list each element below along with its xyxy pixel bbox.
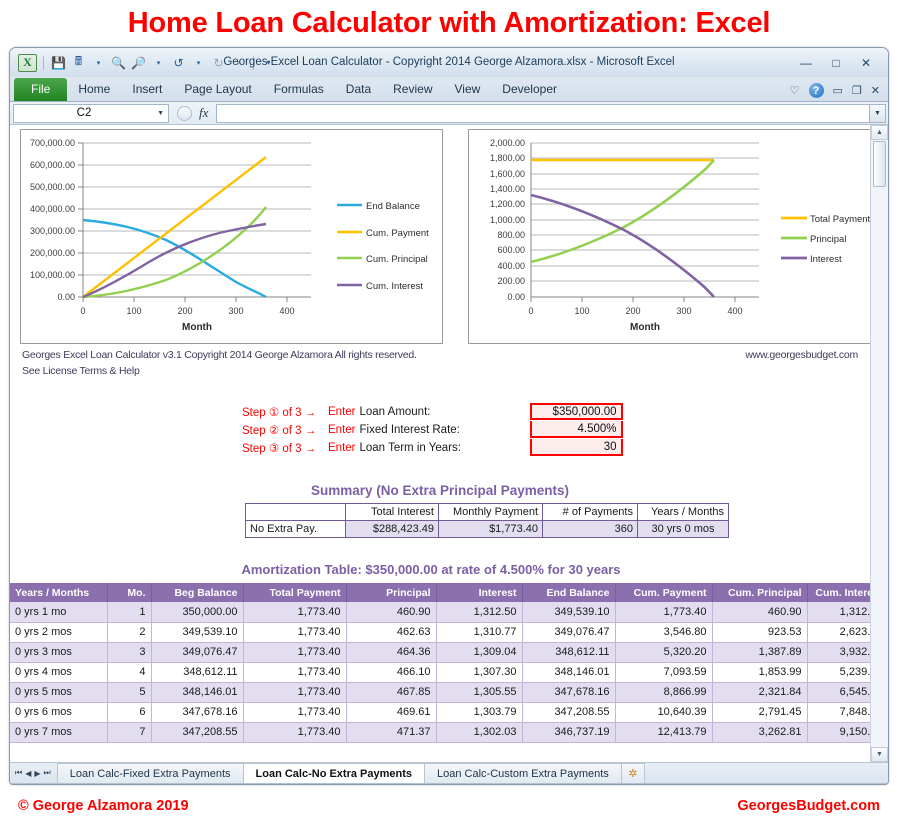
cell-cum-principal: 3,262.81 bbox=[712, 722, 807, 742]
restore-icon[interactable]: □ bbox=[826, 55, 846, 71]
loan-term-input[interactable]: 30 bbox=[530, 439, 623, 456]
website-url: www.georgesbudget.com bbox=[745, 349, 858, 361]
step-2-field-label: Fixed Interest Rate: bbox=[360, 424, 530, 436]
payment-breakdown-chart-svg: 2,000.00 1,800.00 1,600.00 1,400.00 1,20… bbox=[469, 130, 887, 343]
cell-cum-principal: 923.53 bbox=[712, 622, 807, 642]
cumulative-chart-svg: 700,000.00 600,000.00 500,000.00 400,000… bbox=[21, 130, 442, 343]
svg-text:300: 300 bbox=[228, 306, 243, 316]
svg-text:200: 200 bbox=[625, 306, 640, 316]
step-1-field-label: Loan Amount: bbox=[360, 406, 530, 418]
sheet-tab-fixed-extra[interactable]: Loan Calc-Fixed Extra Payments bbox=[57, 763, 244, 783]
chevron-down-icon[interactable]: ▼ bbox=[157, 110, 164, 117]
sheet-tab-bar[interactable]: ⏮ ◀ ▶ ⏭ Loan Calc-Fixed Extra Payments L… bbox=[10, 762, 888, 783]
step-row-2[interactable]: Step ② of 3 → Enter Fixed Interest Rate:… bbox=[242, 421, 623, 438]
tab-insert[interactable]: Insert bbox=[121, 78, 173, 101]
cell-cum-principal: 460.90 bbox=[712, 602, 807, 622]
sheet-tab-no-extra[interactable]: Loan Calc-No Extra Payments bbox=[243, 763, 426, 783]
svg-text:Cum. Interest: Cum. Interest bbox=[366, 281, 423, 292]
excel-logo-icon[interactable]: X bbox=[18, 54, 37, 72]
quick-access-toolbar[interactable]: X 💾 🖩 ▾ 🔍 🔎 ▾ ↺ ▾ ↻ ▾ ▾ bbox=[14, 54, 277, 72]
cell-month: 5 bbox=[107, 682, 151, 702]
close-icon[interactable]: ✕ bbox=[856, 55, 876, 71]
cell-years-months: 0 yrs 3 mos bbox=[10, 642, 107, 662]
last-sheet-icon[interactable]: ⏭ bbox=[44, 768, 51, 778]
cell-cum-payment: 3,546.80 bbox=[615, 622, 712, 642]
svg-text:Principal: Principal bbox=[810, 234, 846, 245]
col-month: Mo. bbox=[107, 583, 151, 602]
cell-beg-balance: 347,678.16 bbox=[151, 702, 243, 722]
cell-end-balance: 347,208.55 bbox=[522, 702, 615, 722]
summary-value-row: No Extra Pay. $288,423.49 $1,773.40 360 … bbox=[246, 521, 729, 538]
cell-principal: 462.63 bbox=[346, 622, 436, 642]
scrollbar-thumb[interactable] bbox=[873, 141, 886, 187]
step-1-enter: Enter bbox=[328, 406, 356, 418]
table-row[interactable]: 0 yrs 5 mos 5 348,146.01 1,773.40 467.85… bbox=[10, 682, 888, 702]
svg-text:Cum. Principal: Cum. Principal bbox=[366, 254, 428, 265]
svg-text:400: 400 bbox=[727, 306, 742, 316]
cell-end-balance: 348,612.11 bbox=[522, 642, 615, 662]
cell-cum-payment: 7,093.59 bbox=[615, 662, 712, 682]
cell-years-months: 0 yrs 1 mo bbox=[10, 602, 107, 622]
summary-header-total-interest: Total Interest bbox=[346, 504, 439, 521]
summary-header-years-months: Years / Months bbox=[638, 504, 729, 521]
cell-years-months: 0 yrs 6 mos bbox=[10, 702, 107, 722]
step-2-enter: Enter bbox=[328, 424, 356, 436]
cell-years-months: 0 yrs 7 mos bbox=[10, 722, 107, 742]
cell-years-months: 0 yrs 2 mos bbox=[10, 622, 107, 642]
tab-view[interactable]: View bbox=[444, 78, 492, 101]
cell-month: 3 bbox=[107, 642, 151, 662]
summary-monthly-payment: $1,773.40 bbox=[439, 521, 543, 538]
summary-header-blank bbox=[246, 504, 346, 521]
page-title: Home Loan Calculator with Amortization: … bbox=[128, 7, 771, 40]
cell-principal: 460.90 bbox=[346, 602, 436, 622]
svg-text:700,000.00: 700,000.00 bbox=[30, 138, 75, 148]
cancel-formula-icon[interactable] bbox=[177, 106, 192, 121]
sheet-tab-custom-extra[interactable]: Loan Calc-Custom Extra Payments bbox=[424, 763, 622, 783]
worksheet-area[interactable]: 700,000.00 600,000.00 500,000.00 400,000… bbox=[10, 125, 888, 762]
chevron-down-icon-4[interactable]: ▾ bbox=[230, 54, 247, 71]
cell-total-payment: 1,773.40 bbox=[243, 662, 346, 682]
excel-window: X 💾 🖩 ▾ 🔍 🔎 ▾ ↺ ▾ ↻ ▾ ▾ Georges Excel Lo… bbox=[9, 47, 889, 785]
cell-total-payment: 1,773.40 bbox=[243, 702, 346, 722]
cell-beg-balance: 349,539.10 bbox=[151, 622, 243, 642]
cell-total-payment: 1,773.40 bbox=[243, 602, 346, 622]
cumulative-chart-legend: End Balance Cum. Payment Cum. Principal … bbox=[337, 201, 429, 292]
cell-end-balance: 348,146.01 bbox=[522, 662, 615, 682]
license-terms-link[interactable]: See License Terms & Help bbox=[22, 365, 140, 377]
col-years-months: Years / Months bbox=[10, 583, 107, 602]
cell-interest: 1,302.03 bbox=[436, 722, 522, 742]
summary-years-months: 30 yrs 0 mos bbox=[638, 521, 729, 538]
svg-text:0: 0 bbox=[528, 306, 533, 316]
cell-cum-principal: 2,791.45 bbox=[712, 702, 807, 722]
scroll-down-icon[interactable]: ▼ bbox=[871, 747, 888, 762]
step-row-3[interactable]: Step ③ of 3 → Enter Loan Term in Years: … bbox=[242, 439, 623, 456]
next-sheet-icon[interactable]: ▶ bbox=[34, 769, 40, 778]
footer-site: GeorgesBudget.com bbox=[737, 798, 880, 814]
cell-month: 2 bbox=[107, 622, 151, 642]
cell-month: 4 bbox=[107, 662, 151, 682]
svg-text:200: 200 bbox=[177, 306, 192, 316]
step-3-field-label: Loan Term in Years: bbox=[360, 442, 530, 454]
previous-sheet-icon[interactable]: ◀ bbox=[25, 769, 31, 778]
footer-copyright: © George Alzamora 2019 bbox=[18, 798, 189, 814]
close-workbook-icon[interactable]: ✕ bbox=[871, 84, 880, 97]
cell-interest: 1,312.50 bbox=[436, 602, 522, 622]
amortization-title: Amortization Table: $350,000.00 at rate … bbox=[10, 562, 852, 577]
col-interest: Interest bbox=[436, 583, 522, 602]
svg-text:1,400.00: 1,400.00 bbox=[490, 184, 525, 194]
cell-month: 6 bbox=[107, 702, 151, 722]
tab-home[interactable]: Home bbox=[67, 78, 121, 101]
svg-text:1,600.00: 1,600.00 bbox=[490, 169, 525, 179]
formula-bar[interactable]: C2 ▼ fx ▼ bbox=[10, 102, 888, 125]
summary-num-payments: 360 bbox=[543, 521, 638, 538]
cell-total-payment: 1,773.40 bbox=[243, 622, 346, 642]
svg-text:100,000.00: 100,000.00 bbox=[30, 270, 75, 280]
step-row-1[interactable]: Step ① of 3 → Enter Loan Amount: $350,00… bbox=[242, 403, 623, 420]
svg-text:Interest: Interest bbox=[810, 254, 842, 265]
chevron-down-icon-3[interactable]: ▾ bbox=[190, 54, 207, 71]
svg-text:200,000.00: 200,000.00 bbox=[30, 248, 75, 258]
undo-icon[interactable]: ↺ bbox=[170, 54, 187, 71]
tab-file[interactable]: File bbox=[14, 78, 67, 101]
minimize-icon[interactable]: — bbox=[796, 55, 816, 71]
svg-text:Month: Month bbox=[182, 322, 212, 333]
table-row[interactable]: 0 yrs 2 mos 2 349,539.10 1,773.40 462.63… bbox=[10, 622, 888, 642]
svg-text:400.00: 400.00 bbox=[497, 261, 525, 271]
tab-developer[interactable]: Developer bbox=[491, 78, 568, 101]
cell-principal: 467.85 bbox=[346, 682, 436, 702]
svg-text:100: 100 bbox=[574, 306, 589, 316]
summary-total-interest: $288,423.49 bbox=[346, 521, 439, 538]
insert-function-icon[interactable]: fx bbox=[199, 105, 208, 121]
svg-text:600,000.00: 600,000.00 bbox=[30, 160, 75, 170]
summary-header-num-payments: # of Payments bbox=[543, 504, 638, 521]
divider-2 bbox=[253, 56, 254, 70]
cell-total-payment: 1,773.40 bbox=[243, 722, 346, 742]
table-row[interactable]: 0 yrs 3 mos 3 349,076.47 1,773.40 464.36… bbox=[10, 642, 888, 662]
svg-text:1,200.00: 1,200.00 bbox=[490, 199, 525, 209]
cell-month: 7 bbox=[107, 722, 151, 742]
col-cum-payment: Cum. Payment bbox=[615, 583, 712, 602]
tab-formulas[interactable]: Formulas bbox=[263, 78, 335, 101]
interest-rate-input[interactable]: 4.500% bbox=[530, 421, 623, 438]
name-box-value: C2 bbox=[14, 107, 168, 119]
find-icon[interactable]: 🔍 bbox=[110, 54, 127, 71]
ribbon-tab-strip[interactable]: File Home Insert Page Layout Formulas Da… bbox=[10, 77, 888, 102]
step-3-label: Step ③ of 3 → bbox=[242, 441, 324, 455]
loan-amount-input[interactable]: $350,000.00 bbox=[530, 403, 623, 420]
tab-review[interactable]: Review bbox=[382, 78, 443, 101]
status-bar: Ready ▤ ▦ ▣ ▥ 84% − + ◢ bbox=[10, 783, 888, 785]
summary-label: No Extra Pay. bbox=[246, 521, 346, 538]
summary-table: Total Interest Monthly Payment # of Paym… bbox=[245, 503, 729, 538]
cell-cum-principal: 2,321.84 bbox=[712, 682, 807, 702]
svg-text:2,000.00: 2,000.00 bbox=[490, 138, 525, 148]
divider bbox=[43, 56, 44, 70]
cell-beg-balance: 348,612.11 bbox=[151, 662, 243, 682]
cell-interest: 1,307.30 bbox=[436, 662, 522, 682]
cell-interest: 1,309.04 bbox=[436, 642, 522, 662]
cell-beg-balance: 348,146.01 bbox=[151, 682, 243, 702]
svg-text:400,000.00: 400,000.00 bbox=[30, 204, 75, 214]
insert-worksheet-icon[interactable]: ✲ bbox=[621, 763, 645, 783]
cell-interest: 1,305.55 bbox=[436, 682, 522, 702]
svg-text:0.00: 0.00 bbox=[507, 292, 525, 302]
cell-interest: 1,310.77 bbox=[436, 622, 522, 642]
col-principal: Principal bbox=[346, 583, 436, 602]
table-row[interactable]: 0 yrs 7 mos 7 347,208.55 1,773.40 471.37… bbox=[10, 722, 888, 742]
svg-text:200.00: 200.00 bbox=[497, 276, 525, 286]
ribbon-right-controls[interactable]: ♡ ? ▭ ❐ ✕ bbox=[790, 83, 888, 101]
table-row[interactable]: 0 yrs 1 mo 1 350,000.00 1,773.40 460.90 … bbox=[10, 602, 888, 622]
step-3-enter: Enter bbox=[328, 442, 356, 454]
cell-principal: 469.61 bbox=[346, 702, 436, 722]
svg-text:600.00: 600.00 bbox=[497, 245, 525, 255]
cell-interest: 1,303.79 bbox=[436, 702, 522, 722]
svg-text:400: 400 bbox=[279, 306, 294, 316]
help-icon[interactable]: ? bbox=[809, 83, 824, 98]
amortization-table: Years / Months Mo. Beg Balance Total Pay… bbox=[10, 583, 888, 743]
chevron-down-icon-2[interactable]: ▾ bbox=[150, 54, 167, 71]
sheet-nav-buttons[interactable]: ⏮ ◀ ▶ ⏭ bbox=[12, 763, 57, 783]
cell-beg-balance: 349,076.47 bbox=[151, 642, 243, 662]
window-controls[interactable]: — □ ✕ bbox=[796, 55, 884, 71]
col-beg-balance: Beg Balance bbox=[151, 583, 243, 602]
minimize-workbook-icon[interactable]: ▭ bbox=[833, 84, 843, 97]
cell-end-balance: 349,539.10 bbox=[522, 602, 615, 622]
worksheet-canvas[interactable]: 700,000.00 600,000.00 500,000.00 400,000… bbox=[10, 125, 870, 762]
svg-text:800.00: 800.00 bbox=[497, 230, 525, 240]
cell-total-payment: 1,773.40 bbox=[243, 682, 346, 702]
summary-title: Summary (No Extra Principal Payments) bbox=[10, 483, 870, 498]
cell-principal: 464.36 bbox=[346, 642, 436, 662]
col-end-balance: End Balance bbox=[522, 583, 615, 602]
svg-text:500,000.00: 500,000.00 bbox=[30, 182, 75, 192]
col-total-payment: Total Payment bbox=[243, 583, 346, 602]
cell-cum-principal: 1,387.89 bbox=[712, 642, 807, 662]
cell-principal: 471.37 bbox=[346, 722, 436, 742]
name-box[interactable]: C2 ▼ bbox=[13, 104, 169, 123]
redo-icon[interactable]: ↻ bbox=[210, 54, 227, 71]
vertical-scrollbar[interactable]: ▲ ▼ bbox=[870, 125, 888, 762]
cell-principal: 466.10 bbox=[346, 662, 436, 682]
first-sheet-icon[interactable]: ⏮ bbox=[15, 768, 22, 778]
title-bar: X 💾 🖩 ▾ 🔍 🔎 ▾ ↺ ▾ ↻ ▾ ▾ Georges Excel Lo… bbox=[10, 48, 888, 77]
expand-formula-bar-icon[interactable]: ▼ bbox=[869, 104, 886, 123]
cell-years-months: 0 yrs 4 mos bbox=[10, 662, 107, 682]
svg-text:End Balance: End Balance bbox=[366, 201, 420, 212]
collapse-ribbon-icon[interactable]: ♡ bbox=[790, 84, 800, 97]
col-cum-principal: Cum. Principal bbox=[712, 583, 807, 602]
license-text: Georges Excel Loan Calculator v3.1 Copyr… bbox=[22, 349, 417, 361]
find-replace-icon[interactable]: 🔎 bbox=[130, 54, 147, 71]
svg-text:Total Payment: Total Payment bbox=[810, 214, 871, 225]
table-row[interactable]: 0 yrs 4 mos 4 348,612.11 1,773.40 466.10… bbox=[10, 662, 888, 682]
cell-years-months: 0 yrs 5 mos bbox=[10, 682, 107, 702]
cell-end-balance: 347,678.16 bbox=[522, 682, 615, 702]
amortization-header-row: Years / Months Mo. Beg Balance Total Pay… bbox=[10, 583, 888, 602]
formula-bar-buttons[interactable]: fx bbox=[169, 105, 216, 121]
svg-text:0.00: 0.00 bbox=[57, 292, 75, 302]
amortization-body: 0 yrs 1 mo 1 350,000.00 1,773.40 460.90 … bbox=[10, 602, 888, 742]
page-footer: © George Alzamora 2019 GeorgesBudget.com bbox=[0, 788, 898, 824]
cell-end-balance: 349,076.47 bbox=[522, 622, 615, 642]
table-row[interactable]: 0 yrs 6 mos 6 347,678.16 1,773.40 469.61… bbox=[10, 702, 888, 722]
cumulative-chart[interactable]: 700,000.00 600,000.00 500,000.00 400,000… bbox=[20, 129, 443, 344]
payment-breakdown-chart[interactable]: 2,000.00 1,800.00 1,600.00 1,400.00 1,20… bbox=[468, 129, 888, 344]
svg-text:300,000.00: 300,000.00 bbox=[30, 226, 75, 236]
svg-text:1,800.00: 1,800.00 bbox=[490, 153, 525, 163]
svg-text:1,000.00: 1,000.00 bbox=[490, 215, 525, 225]
cell-beg-balance: 347,208.55 bbox=[151, 722, 243, 742]
svg-text:Month: Month bbox=[630, 322, 660, 333]
cell-cum-payment: 10,640.39 bbox=[615, 702, 712, 722]
cell-cum-principal: 1,853.99 bbox=[712, 662, 807, 682]
page-title-banner: Home Loan Calculator with Amortization: … bbox=[0, 0, 898, 46]
step-1-label: Step ① of 3 → bbox=[242, 405, 324, 419]
save-icon[interactable]: 💾 bbox=[50, 54, 67, 71]
cell-cum-payment: 12,413.79 bbox=[615, 722, 712, 742]
svg-text:300: 300 bbox=[676, 306, 691, 316]
print-preview-icon[interactable]: 🖩 bbox=[70, 54, 87, 71]
restore-workbook-icon[interactable]: ❐ bbox=[852, 84, 862, 97]
svg-text:100: 100 bbox=[126, 306, 141, 316]
scroll-up-icon[interactable]: ▲ bbox=[871, 125, 888, 140]
cell-total-payment: 1,773.40 bbox=[243, 642, 346, 662]
customize-qat-icon[interactable]: ▾ bbox=[260, 54, 277, 71]
cell-beg-balance: 350,000.00 bbox=[151, 602, 243, 622]
svg-text:0: 0 bbox=[80, 306, 85, 316]
svg-text:Cum. Payment: Cum. Payment bbox=[366, 228, 429, 239]
cell-cum-payment: 8,866.99 bbox=[615, 682, 712, 702]
input-steps[interactable]: Step ① of 3 → Enter Loan Amount: $350,00… bbox=[242, 403, 623, 457]
cell-month: 1 bbox=[107, 602, 151, 622]
cell-cum-payment: 5,320.20 bbox=[615, 642, 712, 662]
step-2-label: Step ② of 3 → bbox=[242, 423, 324, 437]
cell-end-balance: 346,737.19 bbox=[522, 722, 615, 742]
summary-header-monthly-payment: Monthly Payment bbox=[439, 504, 543, 521]
payment-breakdown-chart-legend: Total Payment Principal Interest bbox=[781, 214, 871, 265]
tab-data[interactable]: Data bbox=[335, 78, 382, 101]
cell-cum-payment: 1,773.40 bbox=[615, 602, 712, 622]
chevron-down-icon[interactable]: ▾ bbox=[90, 54, 107, 71]
tab-page-layout[interactable]: Page Layout bbox=[173, 78, 262, 101]
formula-input[interactable] bbox=[216, 104, 869, 123]
summary-header-row: Total Interest Monthly Payment # of Paym… bbox=[246, 504, 729, 521]
